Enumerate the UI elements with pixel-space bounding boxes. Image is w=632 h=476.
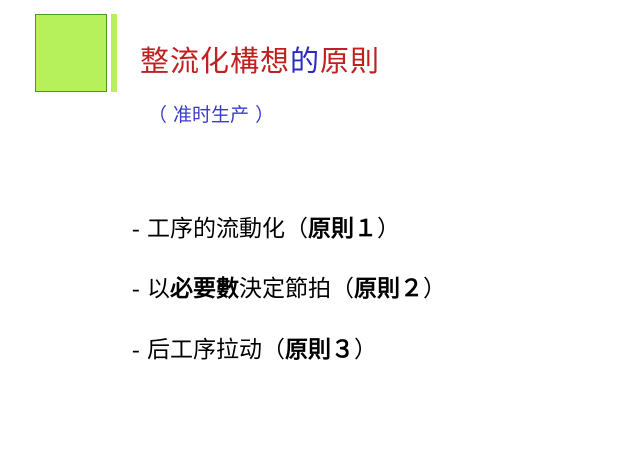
bullet-text: 后工序拉动（ bbox=[140, 337, 285, 363]
page-subtitle: （ 准时生产 ） bbox=[148, 100, 274, 127]
bullet-emphasis: 原則１ bbox=[308, 215, 377, 242]
bullet-text: 工序的流動化（ bbox=[140, 216, 308, 242]
bullet-dash: - bbox=[132, 216, 140, 241]
bullet-dash: - bbox=[132, 337, 140, 362]
bullet-list: - 工序的流動化（原則１） - 以必要數決定節拍（原則２） - 后工序拉动（原則… bbox=[132, 216, 602, 397]
bullet-text-tail: ） bbox=[377, 216, 400, 242]
title-segment-suffix: 原則 bbox=[320, 44, 380, 78]
bullet-text: 以 bbox=[140, 276, 170, 302]
bullet-emphasis: 原則３ bbox=[285, 336, 354, 363]
list-item: - 以必要數決定節拍（原則２） bbox=[132, 276, 602, 302]
title-segment-connector: 的 bbox=[290, 44, 320, 78]
bullet-text-mid: 決定節拍（ bbox=[239, 276, 354, 302]
decorative-green-square bbox=[35, 14, 107, 92]
bullet-emphasis: 原則２ bbox=[354, 275, 423, 302]
list-item: - 工序的流動化（原則１） bbox=[132, 216, 602, 242]
page-title: 整流化構想的原則 bbox=[140, 38, 380, 80]
title-segment-primary: 整流化構想 bbox=[140, 44, 290, 78]
list-item: - 后工序拉动（原則３） bbox=[132, 337, 602, 363]
slide: 整流化構想的原則 （ 准时生产 ） - 工序的流動化（原則１） - 以必要數決定… bbox=[0, 0, 632, 476]
bullet-text-tail: ） bbox=[354, 337, 377, 363]
bullet-dash: - bbox=[132, 276, 140, 301]
bullet-emphasis-lead: 必要數 bbox=[170, 275, 239, 302]
decorative-accent-bar bbox=[111, 14, 117, 92]
bullet-text-tail: ） bbox=[423, 276, 446, 302]
